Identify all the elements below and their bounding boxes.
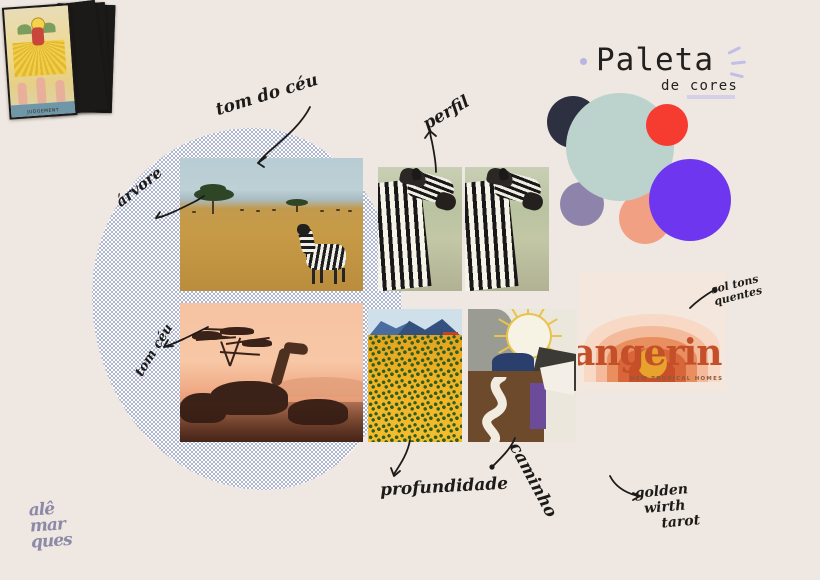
sparkle-dash-2 — [731, 60, 746, 65]
image-zebra-profile-2[interactable] — [465, 167, 549, 291]
arrow-perfil — [424, 128, 450, 174]
page-title: Paleta — [596, 42, 714, 78]
swatch-vivid-red[interactable] — [646, 104, 688, 146]
annotation-golden-wirth-tarot: golden wirth tarot — [634, 478, 724, 533]
arrow-tom-do-ceu — [252, 105, 312, 167]
image-tarot-deck[interactable]: JUDGEMENT — [0, 0, 122, 134]
title-accent-dot — [580, 58, 587, 65]
poster-title: angerin — [578, 332, 721, 374]
page-subtitle: de cores — [661, 78, 738, 94]
image-flower-field[interactable] — [368, 309, 462, 442]
image-zebra-profile-1[interactable] — [378, 167, 462, 291]
arrow-golden-wirth-tarot — [608, 474, 642, 502]
poster-subtitle: NEW TROPICAL HOMES — [630, 376, 723, 382]
signature: alê mar ques — [28, 497, 107, 554]
image-savanna[interactable] — [180, 158, 363, 291]
image-sun-path-collage[interactable] — [468, 309, 576, 442]
signature-line-3: ques — [31, 529, 108, 550]
moodboard-canvas: angerin NEW TROPICAL HOMES JUDGEMENT — [0, 0, 820, 580]
subtitle-highlight — [687, 95, 735, 99]
image-giraffe-sunset[interactable] — [180, 303, 363, 442]
arrow-sol-tons-quentes — [688, 286, 720, 312]
tarot-card-judgement: JUDGEMENT — [2, 3, 78, 119]
winding-path-icon — [472, 377, 528, 442]
arrow-caminho — [485, 438, 519, 474]
arrow-arvore — [154, 192, 206, 222]
sparkle-dash-1 — [727, 46, 741, 55]
arrow-tom-ceu — [162, 325, 210, 351]
arrow-profundidade — [386, 440, 416, 480]
swatch-electric-purple[interactable] — [649, 159, 731, 241]
